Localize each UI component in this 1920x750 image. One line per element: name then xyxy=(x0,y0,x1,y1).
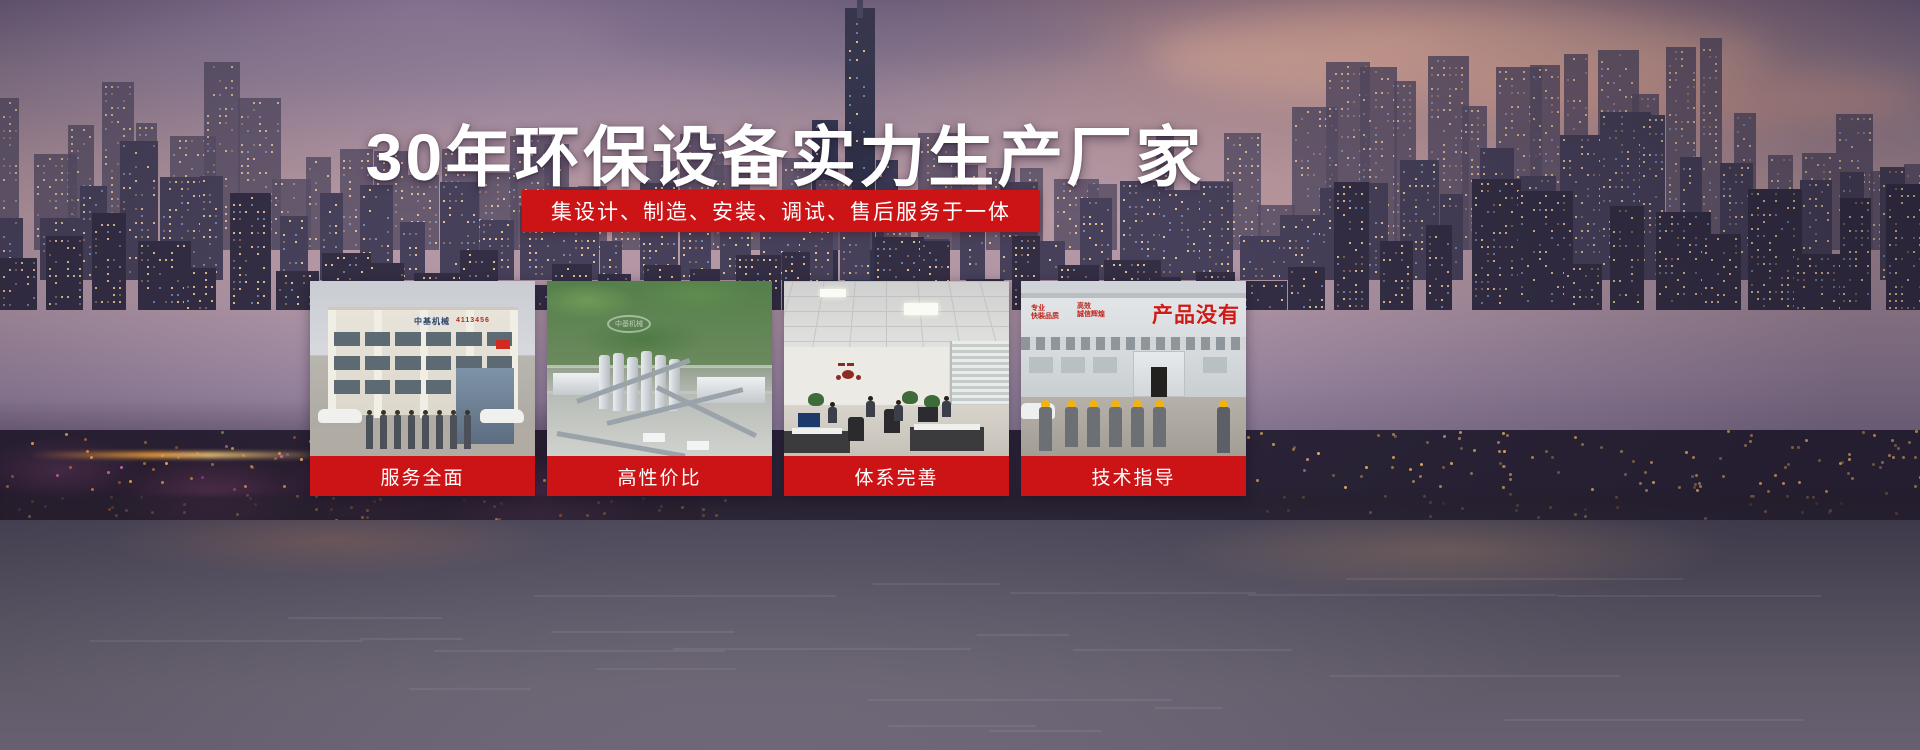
truck xyxy=(643,433,665,442)
staff-person xyxy=(380,415,387,449)
truck xyxy=(687,441,709,450)
water-ripple xyxy=(1010,592,1256,594)
parked-car xyxy=(318,409,362,423)
parked-car xyxy=(480,409,524,423)
staff-person xyxy=(436,415,443,449)
employee xyxy=(866,401,875,417)
water-ripple xyxy=(1073,649,1292,651)
water-ripple xyxy=(1329,675,1619,677)
hero-banner: 30年环保设备实力生产厂家 集设计、制造、安装、调试、售后服务于一体 xyxy=(0,0,1920,750)
water-ripple xyxy=(873,583,1000,585)
chair xyxy=(848,417,864,441)
water-ripple xyxy=(434,650,725,652)
factory-roof xyxy=(1021,293,1246,298)
ceiling-grid xyxy=(784,281,1009,347)
water-ripple xyxy=(888,725,1036,727)
desk xyxy=(910,427,984,451)
card-caption: 高性价比 xyxy=(547,456,772,496)
silo xyxy=(655,355,666,411)
ceiling-light xyxy=(904,303,938,315)
factory-banner-slogan: 产品没有 xyxy=(1152,299,1240,329)
desk-surface xyxy=(914,424,980,430)
silo xyxy=(641,351,652,411)
water-ripple xyxy=(1505,719,1804,721)
feature-card[interactable]: 体系完善 xyxy=(784,281,1009,496)
office-interior-team-photo xyxy=(784,281,1009,456)
water-ripple xyxy=(1248,594,1556,596)
staff-person xyxy=(422,415,429,449)
subtitle-badge: 集设计、制造、安装、调试、售后服务于一体 xyxy=(522,190,1040,232)
wall-decal xyxy=(836,363,862,383)
water-ripple xyxy=(288,617,442,619)
plant xyxy=(902,391,918,404)
silo xyxy=(599,355,610,409)
aerial-industrial-plant-photo: 中基机械 xyxy=(547,281,772,456)
photo-watermark: 中基机械 xyxy=(607,315,651,333)
staff-person xyxy=(366,415,373,449)
water-ripple xyxy=(360,638,462,640)
window-band xyxy=(1021,337,1246,350)
water-ripple xyxy=(90,640,363,642)
worker xyxy=(1087,407,1100,447)
factory-door xyxy=(1151,367,1167,397)
banner-content: 30年环保设备实力生产厂家 集设计、制造、安装、调试、售后服务于一体 xyxy=(0,0,1920,750)
subtitle-text: 集设计、制造、安装、调试、售后服务于一体 xyxy=(551,196,1011,226)
factory-window xyxy=(1093,357,1117,373)
feature-card[interactable]: 中基机械 4113456 服务全面 xyxy=(310,281,535,496)
factory-window xyxy=(1203,357,1227,373)
conveyor xyxy=(557,431,686,456)
company-sign: 中基机械 xyxy=(414,316,450,327)
office-building-staff-photo: 中基机械 4113456 xyxy=(310,281,535,456)
desk-surface xyxy=(792,428,842,434)
factory-workers-photo: 产品没有 专业快裝品质 高效誠信辉煌 xyxy=(1021,281,1246,456)
water-ripple xyxy=(989,730,1103,732)
supervisor xyxy=(1217,407,1230,453)
wall-slogan: 高效誠信辉煌 xyxy=(1077,303,1105,319)
water-ripple xyxy=(409,688,531,690)
card-caption: 体系完善 xyxy=(784,456,1009,496)
water-ripple xyxy=(1557,595,1821,597)
desk xyxy=(784,431,850,453)
page-title: 30年环保设备实力生产厂家 xyxy=(0,104,1570,200)
worker xyxy=(1109,407,1122,447)
staff-person xyxy=(408,415,415,449)
worker xyxy=(1153,407,1166,447)
monitor xyxy=(798,413,820,427)
water-ripple xyxy=(1155,707,1223,709)
feature-card-list: 中基机械 4113456 服务全面 xyxy=(310,281,1260,496)
feature-card[interactable]: 中基机械 高性价比 xyxy=(547,281,772,496)
monitor xyxy=(918,407,938,422)
card-caption: 服务全面 xyxy=(310,456,535,496)
worker xyxy=(1065,407,1078,447)
staff-person xyxy=(450,415,457,449)
employee xyxy=(828,407,837,423)
water-ripple xyxy=(868,699,1172,701)
water-ripple xyxy=(534,595,835,597)
ceiling-light xyxy=(820,289,846,297)
office-building: 中基机械 4113456 xyxy=(328,307,518,415)
staff-person xyxy=(464,415,471,449)
worker xyxy=(1039,407,1052,451)
staff-person xyxy=(394,415,401,449)
water-ripple xyxy=(977,634,1069,636)
water-ripple xyxy=(1346,578,1683,580)
phone-number: 4113456 xyxy=(456,317,490,324)
worker xyxy=(1131,407,1144,447)
factory-window xyxy=(1061,357,1085,373)
water-ripple xyxy=(596,668,736,670)
wall-slogan: 专业快裝品质 xyxy=(1031,305,1059,321)
employee xyxy=(894,405,903,421)
card-caption: 技术指导 xyxy=(1021,456,1246,496)
window-blinds xyxy=(950,341,1009,407)
factory-window xyxy=(1029,357,1053,373)
flag xyxy=(496,340,510,349)
water-ripple xyxy=(551,631,734,633)
feature-card[interactable]: 产品没有 专业快裝品质 高效誠信辉煌 xyxy=(1021,281,1246,496)
employee xyxy=(942,401,951,417)
plant xyxy=(808,393,824,406)
